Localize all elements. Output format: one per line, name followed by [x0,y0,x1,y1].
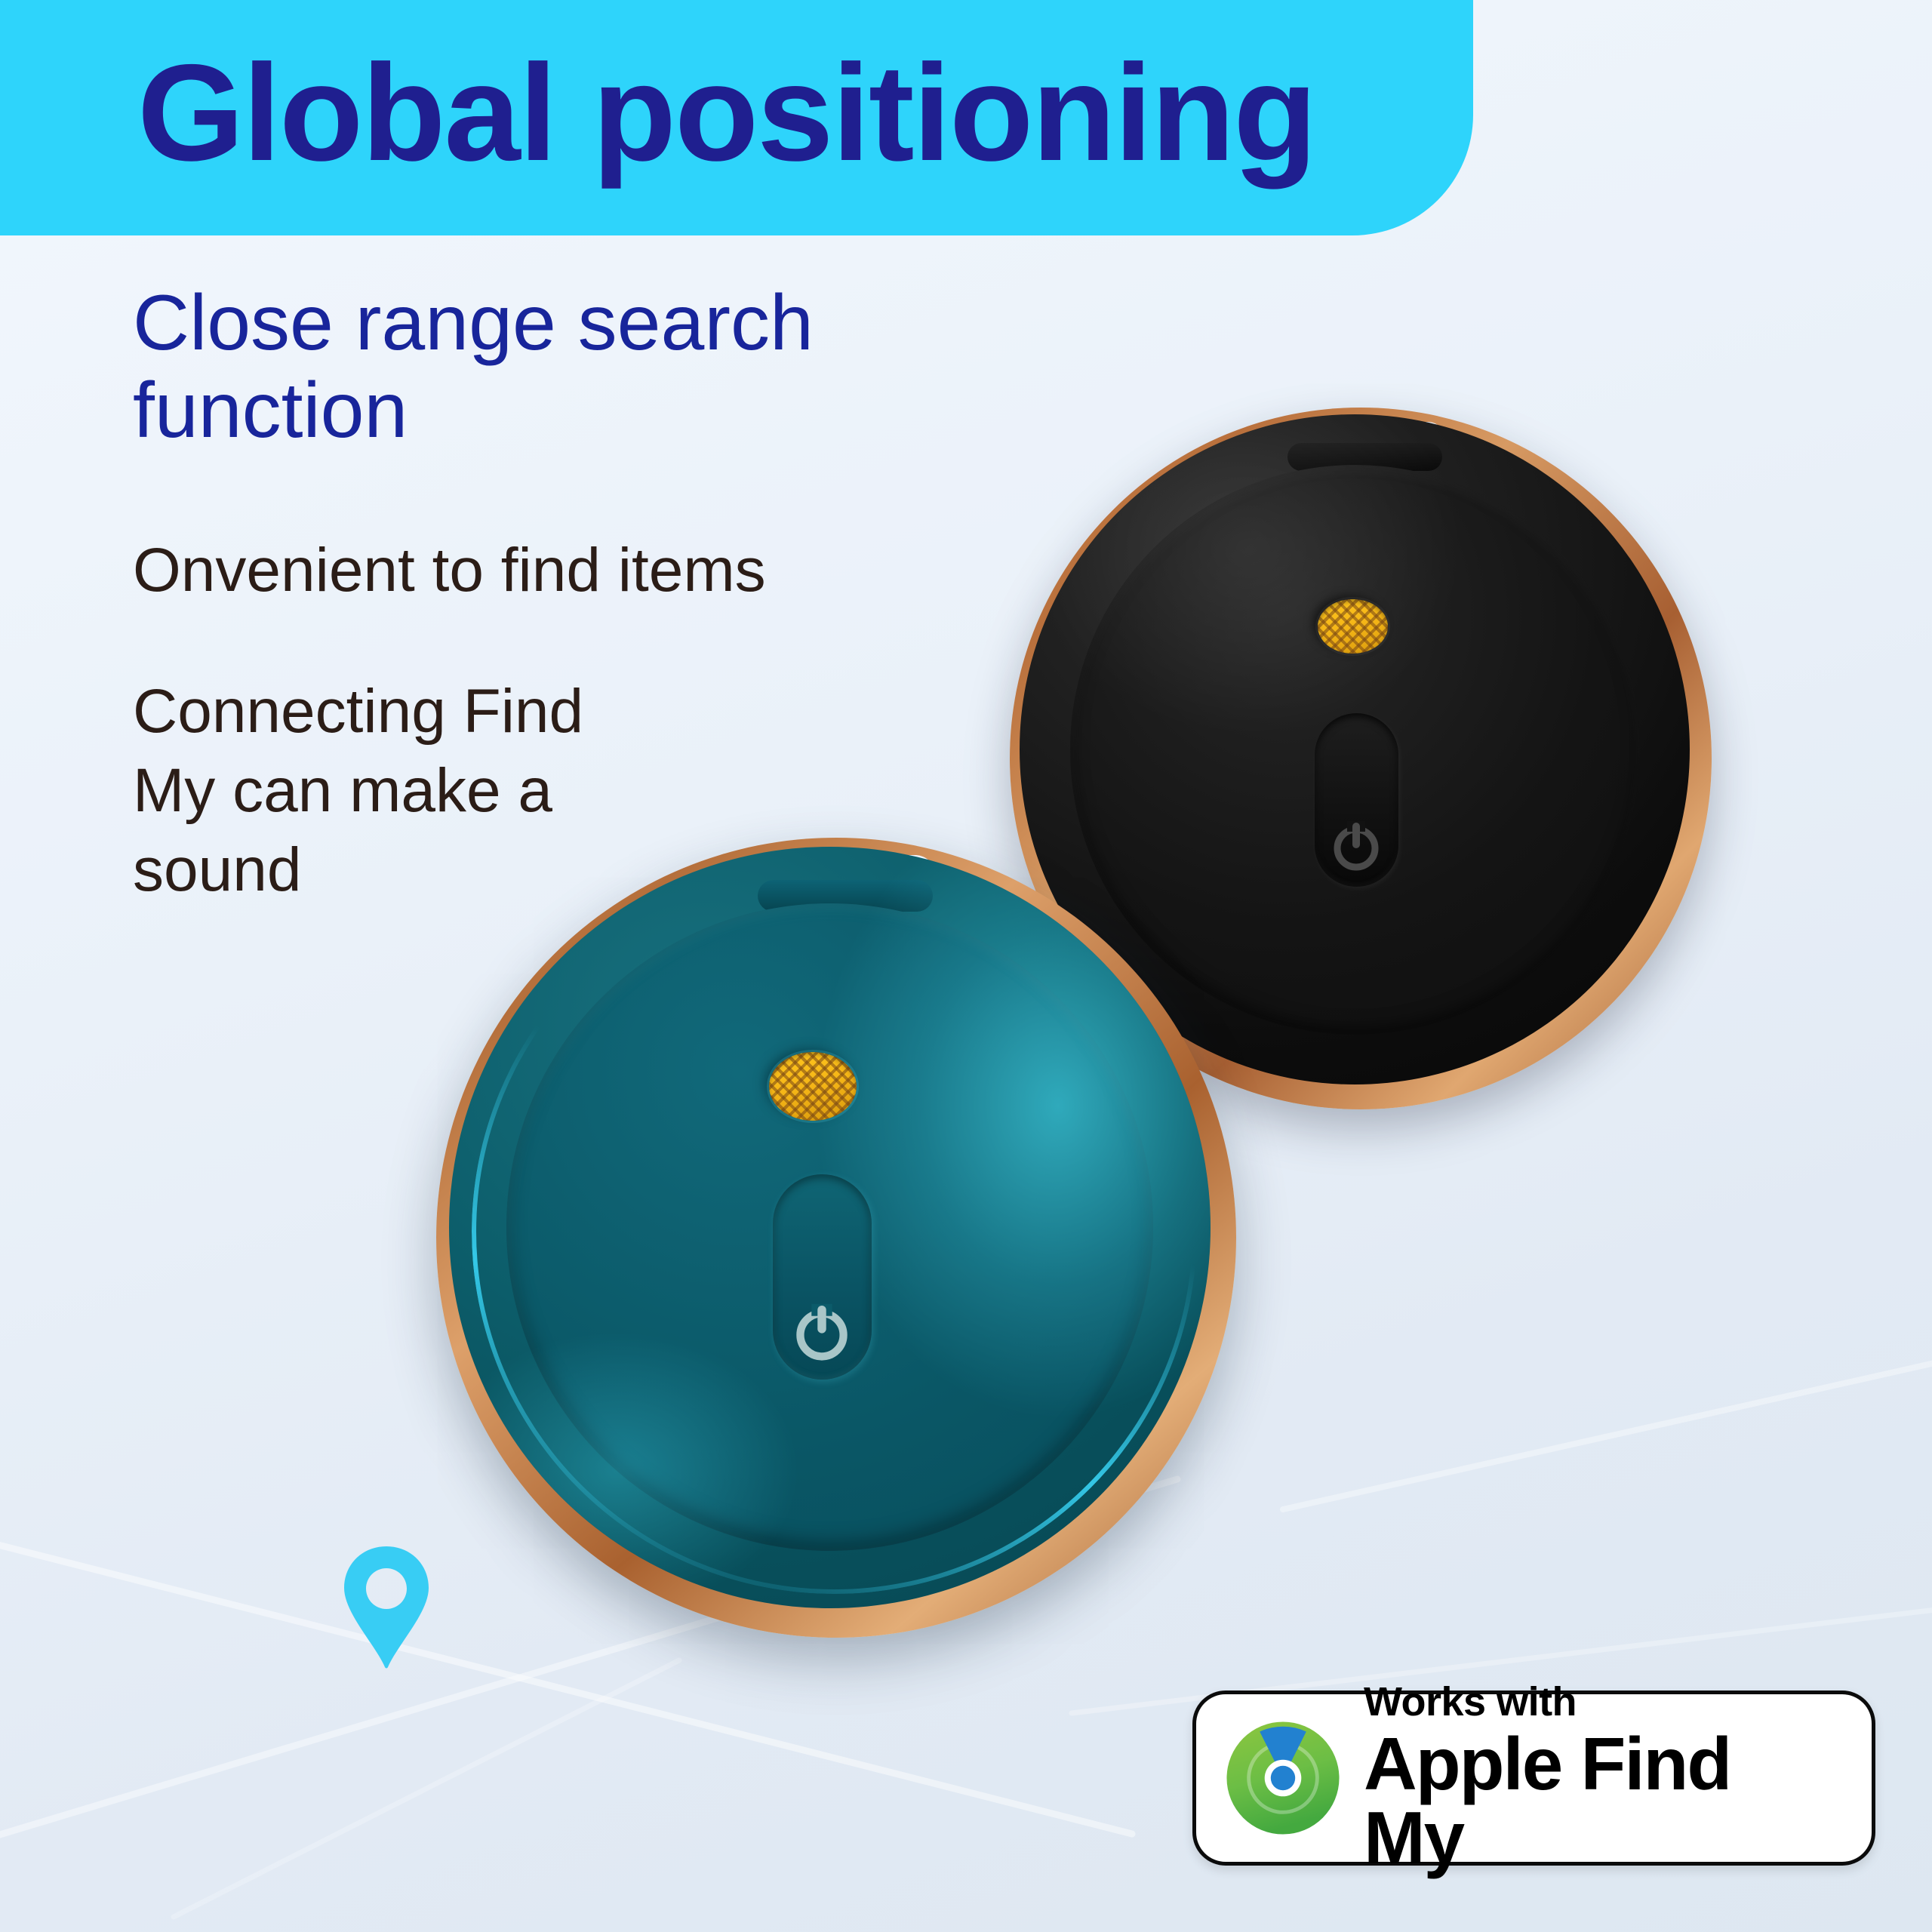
device-body-teal [449,847,1211,1608]
badge-works-with-label: Works with [1364,1681,1846,1722]
page-title: Global positioning [137,44,1315,181]
power-icon [786,1294,858,1366]
header-banner: Global positioning [0,0,1473,235]
power-button-teal[interactable] [773,1174,872,1380]
feature-text-1: Onvenient to find items [133,535,1023,606]
location-pin-icon [341,1543,432,1672]
findmy-radar-icon [1222,1717,1344,1839]
speaker-grille-icon [769,1052,857,1121]
copy-block: Close range search function Onvenient to… [133,279,1023,910]
tracker-device-teal [436,838,1236,1638]
power-button-black[interactable] [1315,713,1398,888]
feature-text-2: Connecting Find My can make a sound [133,672,601,910]
product-poster: Global positioning Close range search fu… [0,0,1932,1932]
speaker-grille-icon [1318,599,1388,654]
badge-apple-find-my-label: Apple Find My [1364,1727,1846,1875]
headline-text: Close range search function [133,279,978,455]
badge-text-block: Works with Apple Find My [1364,1681,1846,1875]
power-icon [1324,812,1388,875]
works-with-apple-find-my-badge: Works with Apple Find My [1192,1690,1875,1866]
